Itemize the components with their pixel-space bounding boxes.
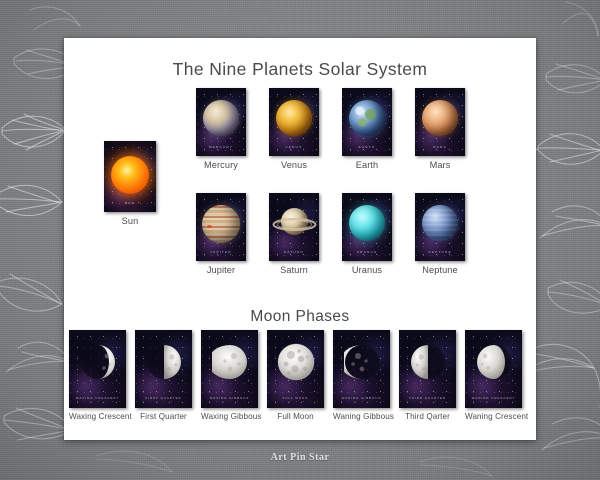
moon-card-full-moon[interactable]: FULL MOON Full Moon (267, 330, 324, 421)
label-venus: Venus (269, 160, 319, 170)
moon-card-first-quarter[interactable]: FIRST QUARTER First Quarter (135, 330, 192, 421)
label-earth: Earth (342, 160, 392, 170)
card-caption-saturn: SATURN (269, 250, 319, 254)
moon-disc-waxing-crescent (80, 344, 116, 380)
card-caption-waning-gibbous: WANING GIBBOUS (333, 396, 390, 400)
card-waning-gibbous[interactable]: WANING GIBBOUS (333, 330, 390, 408)
background-wall: The Nine Planets Solar System SUN Sun ME… (0, 0, 600, 480)
planet-row-outer: JUPITER Jupiter SATURN Saturn (196, 193, 465, 275)
card-uranus[interactable]: URANUS (342, 193, 392, 261)
card-caption-waxing-gibbous: WAXING GIBBOUS (201, 396, 258, 400)
sun-card-block[interactable]: SUN Sun (104, 141, 156, 226)
page-title: The Nine Planets Solar System (64, 38, 536, 80)
card-mercury[interactable]: MERCURY (196, 88, 246, 156)
moon-card-waxing-gibbous[interactable]: WAXING GIBBOUS Waxing Gibbous (201, 330, 258, 421)
moon-card-waxing-crescent[interactable]: WAXING CRESCENT Waxing Crescent (69, 330, 126, 421)
label-waning-gibbous: Waning Gibbous (333, 412, 390, 421)
moon-disc-waning-crescent (476, 344, 512, 380)
mercury-orb (203, 100, 239, 136)
card-caption-third-quarter: THIRD QUARTER (399, 396, 456, 400)
planet-card-mercury[interactable]: MERCURY Mercury (196, 88, 246, 170)
label-full-moon: Full Moon (267, 412, 324, 421)
card-jupiter[interactable]: JUPITER (196, 193, 246, 261)
mars-orb (422, 100, 458, 136)
planet-card-earth[interactable]: EARTH Earth (342, 88, 392, 170)
label-neptune: Neptune (415, 265, 465, 275)
neptune-orb (422, 205, 458, 241)
sun-orb (111, 156, 149, 194)
card-waxing-crescent[interactable]: WAXING CRESCENT (69, 330, 126, 408)
label-waxing-gibbous: Waxing Gibbous (201, 412, 258, 421)
label-saturn: Saturn (269, 265, 319, 275)
label-waxing-crescent: Waxing Crescent (69, 412, 126, 421)
card-caption-venus: VENUS (269, 145, 319, 149)
uranus-orb (349, 205, 385, 241)
card-waxing-gibbous[interactable]: WAXING GIBBOUS (201, 330, 258, 408)
moon-disc-first-quarter (146, 344, 182, 380)
label-mercury: Mercury (196, 160, 246, 170)
planet-row-inner: MERCURY Mercury VENUS Venus EART (196, 88, 465, 170)
venus-orb (276, 100, 312, 136)
card-full-moon[interactable]: FULL MOON (267, 330, 324, 408)
card-caption-neptune: NEPTUNE (415, 250, 465, 254)
card-caption-jupiter: JUPITER (196, 250, 246, 254)
jupiter-orb (202, 205, 240, 243)
planet-card-venus[interactable]: VENUS Venus (269, 88, 319, 170)
card-caption-sun: SUN (104, 201, 156, 205)
moon-disc-third-quarter (410, 344, 446, 380)
card-mars[interactable]: MARS (415, 88, 465, 156)
moon-phases-row: WAXING CRESCENT Waxing Crescent (69, 330, 522, 421)
moon-disc-full-moon (277, 343, 315, 381)
card-first-quarter[interactable]: FIRST QUARTER (135, 330, 192, 408)
planet-card-uranus[interactable]: URANUS Uranus (342, 193, 392, 275)
poster-sheet: The Nine Planets Solar System SUN Sun ME… (64, 38, 536, 440)
label-jupiter: Jupiter (196, 265, 246, 275)
label-uranus: Uranus (342, 265, 392, 275)
earth-orb (349, 100, 385, 136)
moon-disc-waning-gibbous (344, 344, 380, 380)
card-caption-earth: EARTH (342, 145, 392, 149)
planet-card-neptune[interactable]: NEPTUNE Neptune (415, 193, 465, 275)
label-mars: Mars (415, 160, 465, 170)
moon-phases-title: Moon Phases (64, 308, 536, 326)
card-caption-uranus: URANUS (342, 250, 392, 254)
card-caption-mercury: MERCURY (196, 145, 246, 149)
card-caption-mars: MARS (415, 145, 465, 149)
card-venus[interactable]: VENUS (269, 88, 319, 156)
planet-card-saturn[interactable]: SATURN Saturn (269, 193, 319, 275)
moon-card-waning-crescent[interactable]: WANING CRESCENT Waning Crescent (465, 330, 522, 421)
card-caption-first-quarter: FIRST QUARTER (135, 396, 192, 400)
moon-card-third-quarter[interactable]: THIRD QUARTER Third Qarter (399, 330, 456, 421)
card-caption-waxing-crescent: WAXING CRESCENT (69, 396, 126, 400)
card-neptune[interactable]: NEPTUNE (415, 193, 465, 261)
card-caption-full-moon: FULL MOON (267, 396, 324, 400)
moon-card-waning-gibbous[interactable]: WANING GIBBOUS Waning Gibbous (333, 330, 390, 421)
planet-card-mars[interactable]: MARS Mars (415, 88, 465, 170)
card-sun[interactable]: SUN (104, 141, 156, 212)
card-third-quarter[interactable]: THIRD QUARTER (399, 330, 456, 408)
card-saturn[interactable]: SATURN (269, 193, 319, 261)
moon-disc-waxing-gibbous (212, 344, 248, 380)
card-earth[interactable]: EARTH (342, 88, 392, 156)
label-sun: Sun (104, 216, 156, 226)
label-first-quarter: First Quarter (135, 412, 192, 421)
card-caption-waning-crescent: WANING CRESCENT (465, 396, 522, 400)
jupiter-great-red-spot (207, 225, 212, 228)
label-waning-crescent: Waning Crescent (465, 412, 522, 421)
card-waning-crescent[interactable]: WANING CRESCENT (465, 330, 522, 408)
label-third-quarter: Third Qarter (399, 412, 456, 421)
watermark: Art Pin Star (0, 452, 600, 463)
planet-card-jupiter[interactable]: JUPITER Jupiter (196, 193, 246, 275)
